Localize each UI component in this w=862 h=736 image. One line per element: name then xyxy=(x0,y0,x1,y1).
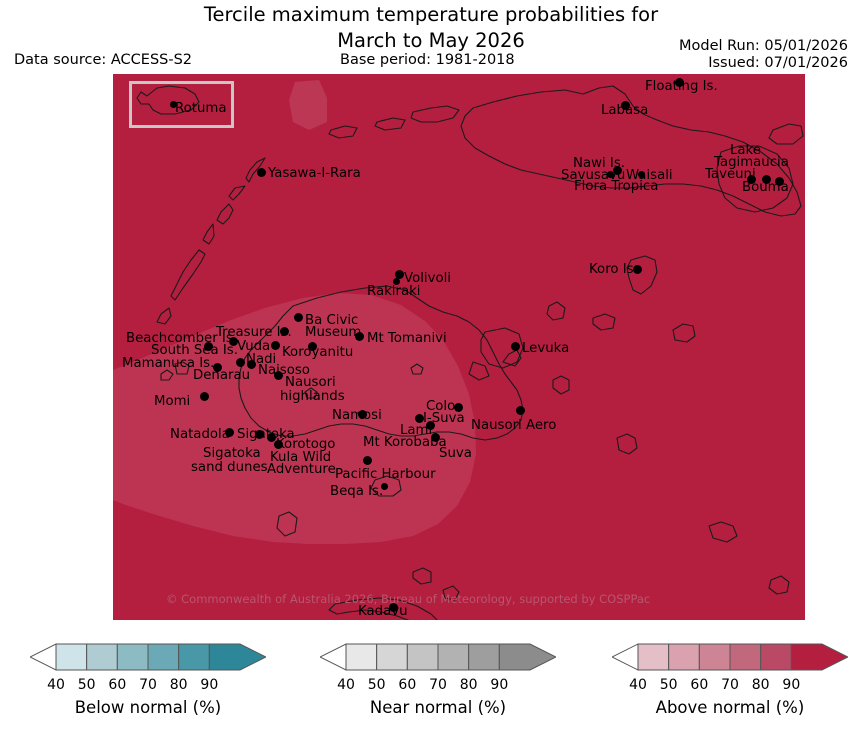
colorbar-above-normal-caption: Above normal (%) xyxy=(612,698,848,717)
map-place-label: highlands xyxy=(280,390,345,404)
map-place-label: Pacific Harbour xyxy=(335,468,436,482)
above-normal-tick: 50 xyxy=(660,677,678,693)
station-dot xyxy=(271,341,280,350)
near-normal-tick: 60 xyxy=(398,677,416,693)
map-place-label: Flora Tropica xyxy=(574,180,658,194)
near-normal-tick: 50 xyxy=(368,677,386,693)
near-normal-swatches xyxy=(320,640,556,676)
copyright-text: © Commonwealth of Australia 2026, Bureau… xyxy=(166,592,650,606)
station-dot xyxy=(200,392,209,401)
base-period-label: Base period: 1981-2018 xyxy=(340,52,515,68)
map-place-label: Natadola xyxy=(170,428,230,442)
issued-label: Issued: 07/01/2026 xyxy=(679,55,848,72)
near-normal-tick: 90 xyxy=(490,677,508,693)
map-place-label: Momi xyxy=(154,395,190,409)
map-place-label: Museum xyxy=(305,326,361,340)
colorbar-below-normal-ticks: 405060708090 xyxy=(30,677,266,694)
colorbar-below-normal-bar xyxy=(30,640,266,676)
model-run-label: Model Run: 05/01/2026 xyxy=(679,38,848,55)
near-normal-swatch[interactable] xyxy=(407,644,438,670)
map-place-label: Bouma xyxy=(742,181,789,195)
station-dot xyxy=(236,358,245,367)
map-place-label: Yasawa-I-Rara xyxy=(268,167,361,181)
map-place-label: Mt Tomanivi xyxy=(367,332,447,346)
below-normal-tick: 60 xyxy=(108,677,126,693)
station-dot xyxy=(363,456,372,465)
above-normal-swatches xyxy=(612,640,848,676)
nw-shade-patch xyxy=(289,80,327,130)
station-dot xyxy=(516,406,525,415)
map-place-label: Treasure Is. xyxy=(216,326,292,340)
near-normal-swatch[interactable] xyxy=(499,644,556,670)
map-place-label: Denarau xyxy=(193,369,250,383)
map-place-label: Nausori xyxy=(285,376,336,390)
colorbar-near-normal-bar xyxy=(320,640,556,676)
map-place-label: Beqa Is. xyxy=(330,485,383,499)
above-normal-swatch[interactable] xyxy=(638,644,669,670)
map-place-label: Floating Is. xyxy=(645,80,718,94)
near-normal-tick: 40 xyxy=(337,677,355,693)
above-normal-tick: 60 xyxy=(690,677,708,693)
station-dot xyxy=(257,168,266,177)
below-normal-tick: 40 xyxy=(47,677,65,693)
map-place-label: Adventure xyxy=(267,463,336,477)
below-normal-swatch[interactable] xyxy=(117,644,148,670)
map-place-label: Rotuma xyxy=(175,102,227,116)
below-normal-tick: 70 xyxy=(139,677,157,693)
map-place-label: Koroyanitu xyxy=(282,346,353,360)
map-place-label: Nausori Aero xyxy=(471,419,556,433)
map-place-label: Mt Korobaba xyxy=(363,436,447,450)
above-normal-swatch[interactable] xyxy=(761,644,792,670)
map-place-label: Kadavu xyxy=(358,605,408,619)
near-normal-swatch[interactable] xyxy=(469,644,500,670)
below-normal-swatch[interactable] xyxy=(148,644,179,670)
above-normal-swatch[interactable] xyxy=(699,644,730,670)
near-normal-swatch[interactable] xyxy=(346,644,377,670)
map-place-label: Rakiraki xyxy=(367,285,421,299)
map-place-label: Namosi xyxy=(332,409,382,423)
above-normal-tick: 80 xyxy=(752,677,770,693)
below-normal-swatches xyxy=(30,640,266,676)
map-place-label: Labasa xyxy=(601,104,648,118)
colorbar-near-normal[interactable]: 405060708090 Near normal (%) xyxy=(320,640,556,717)
model-run-block: Model Run: 05/01/2026 Issued: 07/01/2026 xyxy=(679,38,848,72)
station-dot xyxy=(511,342,520,351)
colorbar-above-normal-bar xyxy=(612,640,848,676)
above-normal-under-arrow xyxy=(612,644,638,670)
near-normal-tick: 80 xyxy=(460,677,478,693)
below-normal-swatch[interactable] xyxy=(87,644,118,670)
above-normal-swatch[interactable] xyxy=(669,644,700,670)
map-place-label: Levuka xyxy=(522,342,569,356)
below-normal-tick: 90 xyxy=(200,677,218,693)
station-dot xyxy=(294,313,303,322)
below-normal-swatch[interactable] xyxy=(56,644,87,670)
below-normal-swatch[interactable] xyxy=(209,644,266,670)
colorbar-near-normal-ticks: 405060708090 xyxy=(320,677,556,694)
map-place-label: Suva xyxy=(439,447,472,461)
map-place-label: Sigatoka xyxy=(203,447,261,461)
colorbar-below-normal-caption: Below normal (%) xyxy=(30,698,266,717)
above-normal-tick: 90 xyxy=(782,677,800,693)
above-normal-swatch[interactable] xyxy=(730,644,761,670)
colorbar-above-normal[interactable]: 405060708090 Above normal (%) xyxy=(612,640,848,717)
data-source-label: Data source: ACCESS-S2 xyxy=(14,52,192,68)
above-normal-swatch[interactable] xyxy=(791,644,848,670)
near-normal-tick: 70 xyxy=(429,677,447,693)
probability-map[interactable]: © Commonwealth of Australia 2026, Bureau… xyxy=(113,74,805,620)
colorbar-near-normal-caption: Near normal (%) xyxy=(320,698,556,717)
below-normal-tick: 80 xyxy=(170,677,188,693)
below-normal-tick: 50 xyxy=(78,677,96,693)
above-normal-tick: 70 xyxy=(721,677,739,693)
below-normal-swatch[interactable] xyxy=(179,644,210,670)
map-place-label: sand dunes xyxy=(191,461,268,475)
title-line-1: Tercile maximum temperature probabilitie… xyxy=(204,3,658,26)
above-normal-tick: 40 xyxy=(629,677,647,693)
below-normal-under-arrow xyxy=(30,644,56,670)
colorbar-below-normal[interactable]: 405060708090 Below normal (%) xyxy=(30,640,266,717)
map-place-label: Koro Is. xyxy=(589,263,638,277)
near-normal-swatch[interactable] xyxy=(438,644,469,670)
near-normal-under-arrow xyxy=(320,644,346,670)
colorbar-above-normal-ticks: 405060708090 xyxy=(612,677,848,694)
near-normal-swatch[interactable] xyxy=(377,644,408,670)
